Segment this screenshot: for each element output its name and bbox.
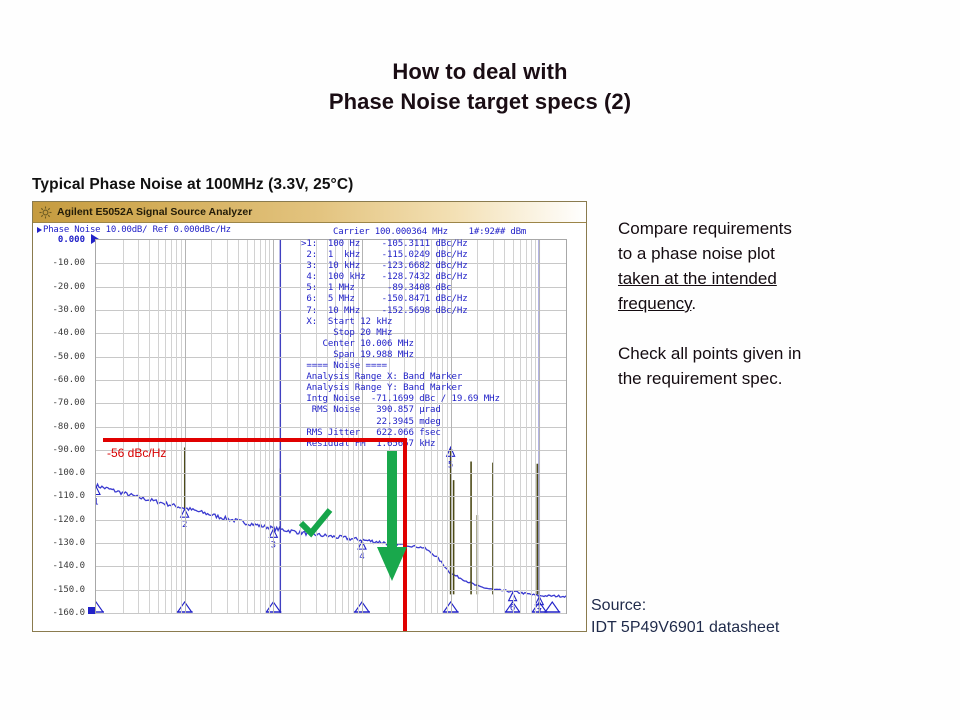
trace-scale-label: Phase Noise 10.00dB/ Ref 0.000dBc/Hz [37, 225, 231, 235]
commentary-line-2: to a phase noise plot [618, 244, 775, 263]
gridline-vertical [531, 240, 532, 613]
gridline-horizontal [96, 566, 566, 567]
sun-icon [39, 206, 52, 219]
gridline-vertical [165, 240, 166, 613]
gridline-vertical [520, 240, 521, 613]
axis-marker-icon [544, 602, 560, 612]
commentary-text: Compare requirements to a phase noise pl… [618, 216, 928, 391]
y-axis-tick-label: 0.000 [58, 235, 85, 245]
commentary-line-3-underlined: taken at the intended [618, 269, 777, 288]
y-axis-tick-label: -140.0 [52, 561, 85, 571]
gridline-vertical [260, 240, 261, 613]
gridline-vertical [269, 240, 270, 613]
gridline-vertical [123, 240, 124, 613]
svg-text:1: 1 [96, 498, 99, 508]
page-title-line-2: Phase Noise target specs (2) [0, 87, 960, 117]
gridline-horizontal [96, 450, 566, 451]
gridline-vertical [171, 240, 172, 613]
axis-marker-icon [96, 602, 104, 612]
gridline-vertical [227, 240, 228, 613]
gridline-horizontal [96, 543, 566, 544]
y-axis-tick-label: -60.00 [52, 375, 85, 385]
y-axis-tick-label: -40.00 [52, 328, 85, 338]
gridline-horizontal [96, 496, 566, 497]
gridline-horizontal [96, 473, 566, 474]
y-axis-tick-label: -80.00 [52, 422, 85, 432]
source-attribution: Source: IDT 5P49V6901 datasheet [591, 595, 921, 639]
commentary-line-5: Check all points given in [618, 344, 801, 363]
gridline-horizontal [96, 590, 566, 591]
gridline-vertical [504, 240, 505, 613]
green-check-icon [299, 508, 333, 542]
gridline-vertical [254, 240, 255, 613]
gridline-vertical [535, 240, 536, 613]
page-title-line-1: How to deal with [0, 57, 960, 87]
y-axis-labels: 0.000-10.00-20.00-30.00-40.00-50.00-60.0… [33, 239, 91, 614]
analyzer-titlebar: Agilent E5052A Signal Source Analyzer [33, 202, 586, 223]
y-axis-tick-label: -30.00 [52, 305, 85, 315]
gridline-vertical [526, 240, 527, 613]
gridline-vertical [158, 240, 159, 613]
y-axis-tick-label: -150.0 [52, 585, 85, 595]
limit-level-label: -56 dBc/Hz [107, 446, 166, 460]
commentary-line-6: the requirement spec. [618, 369, 782, 388]
gridline-vertical [149, 240, 150, 613]
analyzer-window: Agilent E5052A Signal Source Analyzer Ph… [32, 201, 587, 632]
green-down-arrow-icon [377, 451, 407, 587]
gridline-vertical [273, 240, 274, 613]
y-axis-tick-label: -110.0 [52, 491, 85, 501]
phase-noise-figure: Typical Phase Noise at 100MHz (3.3V, 25°… [32, 176, 587, 632]
y-axis-tick-label: -20.00 [52, 282, 85, 292]
figure-caption: Typical Phase Noise at 100MHz (3.3V, 25°… [32, 176, 587, 194]
gridline-horizontal [96, 613, 566, 614]
source-value: IDT 5P49V6901 datasheet [591, 617, 921, 639]
gridline-vertical [265, 240, 266, 613]
y-axis-tick-label: -120.0 [52, 515, 85, 525]
gridline-vertical [138, 240, 139, 613]
analyzer-window-title: Agilent E5052A Signal Source Analyzer [57, 206, 252, 218]
marker-readout-table: >1: 100 Hz -105.3111 dBc/Hz 2: 1 kHz -11… [301, 239, 500, 450]
gridline-vertical [211, 240, 212, 613]
trace-active-icon [37, 227, 42, 233]
gridline-vertical [181, 240, 182, 613]
y-axis-tick-label: -130.0 [52, 538, 85, 548]
gridline-vertical [238, 240, 239, 613]
y-axis-tick-label: -100.0 [52, 468, 85, 478]
commentary-period: . [691, 294, 696, 313]
limit-line-horizontal [103, 438, 403, 442]
y-axis-tick-label: -160.0 [52, 608, 85, 618]
y-axis-tick-label: -10.00 [52, 258, 85, 268]
commentary-paragraph-1: Compare requirements to a phase noise pl… [618, 216, 928, 316]
gridline-vertical [539, 240, 540, 613]
y-axis-tick-label: -70.00 [52, 398, 85, 408]
commentary-paragraph-2: Check all points given in the requiremen… [618, 341, 928, 391]
gridline-vertical [176, 240, 177, 613]
gridline-vertical [513, 240, 514, 613]
page-title: How to deal with Phase Noise target spec… [0, 57, 960, 118]
analyzer-screen: Phase Noise 10.00dB/ Ref 0.000dBc/Hz 0.0… [33, 223, 586, 631]
commentary-line-4-underlined: frequency [618, 294, 691, 313]
gridline-vertical [247, 240, 248, 613]
source-label: Source: [591, 595, 921, 617]
commentary-line-1: Compare requirements [618, 219, 792, 238]
y-axis-tick-label: -50.00 [52, 352, 85, 362]
gridline-vertical [185, 240, 186, 613]
y-axis-tick-label: -90.00 [52, 445, 85, 455]
